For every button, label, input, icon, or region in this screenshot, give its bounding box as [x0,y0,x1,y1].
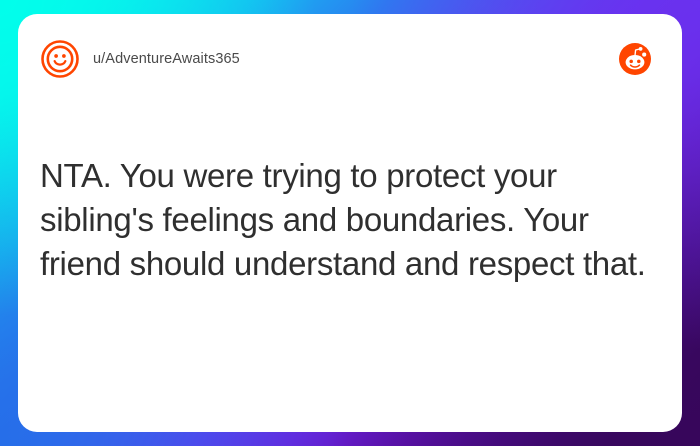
reddit-snoo-icon[interactable] [618,42,652,76]
post-text: NTA. You were trying to protect your sib… [40,154,658,286]
author-username: u/AdventureAwaits365 [93,51,240,67]
card-body: NTA. You were trying to protect your sib… [40,154,658,286]
smiley-face-avatar-icon [40,39,80,79]
screenshot-root: u/AdventureAwaits365 NTA. You were tryin… [0,0,700,446]
reddit-comment-card: u/AdventureAwaits365 NTA. You were tryin… [18,14,682,432]
author-block[interactable]: u/AdventureAwaits365 [40,39,618,79]
card-header: u/AdventureAwaits365 [18,14,682,104]
